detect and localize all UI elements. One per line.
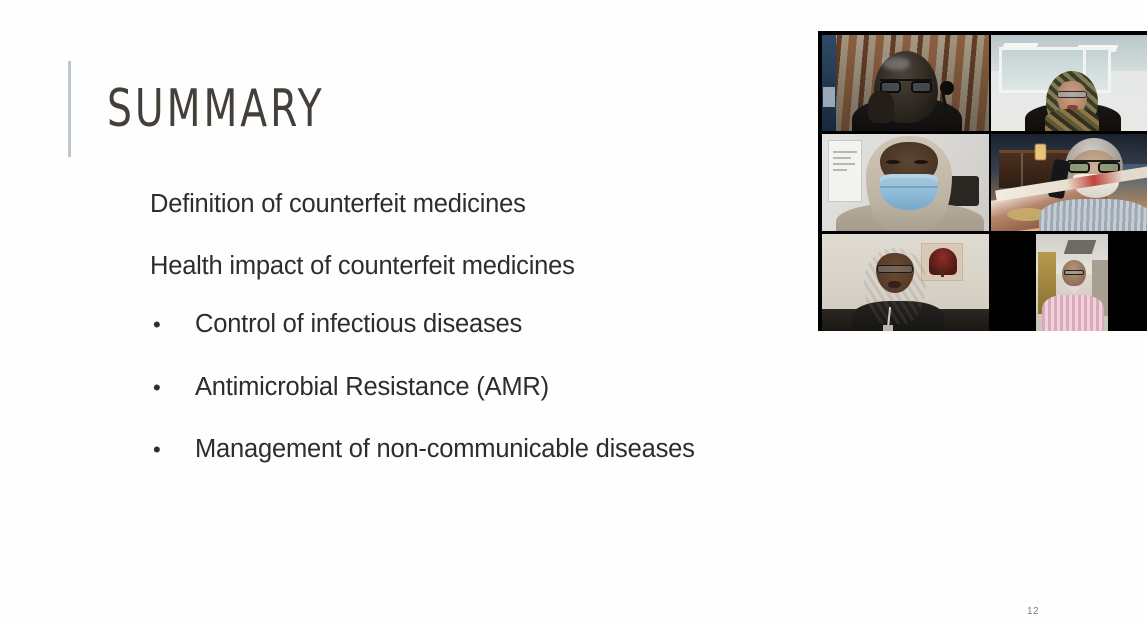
video-tile-bottom-right[interactable]: [991, 234, 1147, 331]
video-tile-bottom-left-active-speaker[interactable]: [822, 234, 989, 331]
headset-microphone-icon: [940, 81, 954, 95]
video-tile-middle-right[interactable]: [991, 134, 1147, 231]
video-conference-grid[interactable]: [818, 31, 1147, 331]
bullet-label-1: Control of infectious diseases: [195, 312, 522, 338]
bullet-point-icon: •: [150, 439, 195, 461]
background-lamp: [1035, 144, 1046, 160]
lead-line-1: Definition of counterfeit medicines: [150, 192, 810, 218]
participant-video-feed: [991, 134, 1147, 231]
bullet-label-2: Antimicrobial Resistance (AMR): [195, 375, 549, 401]
bullet-label-3: Management of non-communicable diseases: [195, 437, 695, 463]
video-tile-middle-left[interactable]: [822, 134, 989, 231]
participant-mouth: [888, 281, 901, 288]
video-tile-top-right[interactable]: [991, 35, 1147, 131]
bullet-point-icon: •: [150, 377, 195, 399]
participant-body: [1042, 295, 1104, 331]
eyeglasses-icon: [1064, 270, 1084, 275]
portrait-video-content: [1036, 234, 1108, 331]
participant-hand: [868, 91, 894, 123]
page-title: SUMMARY: [107, 83, 325, 135]
participant-video-feed: [822, 234, 989, 331]
slide-title-block: SUMMARY: [68, 61, 366, 157]
wall-notice-board: [828, 140, 862, 202]
eyeglasses-icon: [877, 265, 913, 273]
participant-eye-left: [886, 160, 900, 164]
page-number: 12: [1027, 606, 1039, 617]
participant-video-feed: [822, 134, 989, 231]
eyeglasses-icon: [1057, 91, 1087, 98]
background-wall: [822, 35, 836, 131]
participant-video-feed: [991, 234, 1147, 331]
title-accent-bar: [68, 61, 71, 157]
id-badge: [883, 325, 893, 331]
wall-poster: [823, 87, 835, 107]
bullet-point-icon: •: [150, 314, 195, 336]
participant-body: [1039, 199, 1147, 231]
video-tile-top-left[interactable]: [822, 35, 989, 131]
participant-video-feed: [991, 35, 1147, 131]
bullet-item-2: • Antimicrobial Resistance (AMR): [150, 375, 810, 401]
bullet-item-1: • Control of infectious diseases: [150, 312, 810, 338]
presentation-slide: SUMMARY Definition of counterfeit medici…: [0, 0, 1147, 621]
wall-painting: [921, 243, 963, 281]
lead-line-2: Health impact of counterfeit medicines: [150, 254, 810, 280]
participant-eye-right: [914, 160, 928, 164]
eyeglasses-icon: [880, 79, 932, 91]
eyeglasses-icon: [1068, 160, 1120, 171]
slide-body: Definition of counterfeit medicines Heal…: [150, 192, 810, 463]
headscarf: [1045, 109, 1099, 131]
participant-video-feed: [822, 35, 989, 131]
bullet-item-3: • Management of non-communicable disease…: [150, 437, 810, 463]
